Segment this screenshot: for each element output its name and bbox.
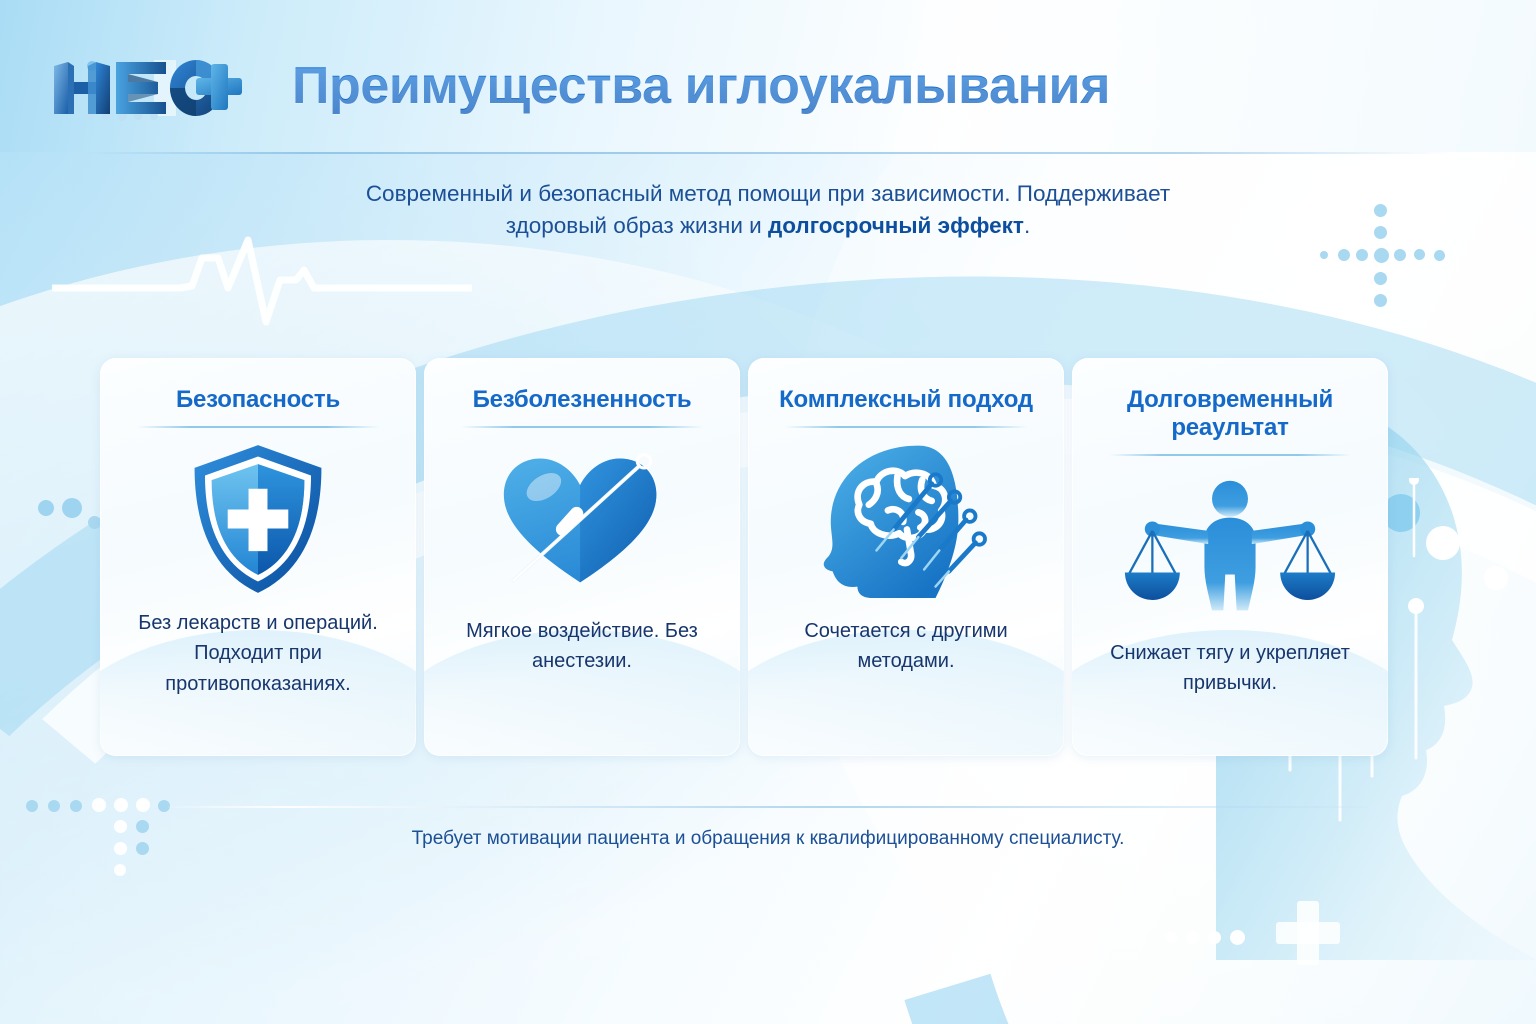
heartbeat-line <box>52 236 472 326</box>
head-brain-needles-icon <box>762 434 1050 604</box>
footer-note: Требует мотивации пациента и обращения к… <box>268 828 1268 850</box>
card-text: Мягкое воздействие. Без анестезии. <box>438 616 726 677</box>
benefit-card-long-term-result[interactable]: Долговременный реаультат <box>1072 358 1388 756</box>
footer-divider <box>168 806 1368 808</box>
bubble-accent-2 <box>38 500 54 516</box>
benefit-card-complex-approach[interactable]: Комплексный подход <box>748 358 1064 756</box>
header-divider <box>85 152 1451 154</box>
benefit-cards: Безопасность <box>100 358 1388 756</box>
card-divider <box>785 426 1027 428</box>
benefit-card-painless[interactable]: Безболезненность <box>424 358 740 756</box>
card-text: Сочетается с другими методами. <box>762 616 1050 677</box>
card-text: Снижает тягу и укрепляет привычки. <box>1086 638 1374 699</box>
benefit-card-safety[interactable]: Безопасность <box>100 358 416 756</box>
heart-needle-icon <box>438 434 726 604</box>
card-title: Долговременный реаультат <box>1086 386 1374 442</box>
subtitle-highlight: долгосрочный эффект <box>768 213 1024 238</box>
card-title: Безопасность <box>176 386 340 414</box>
neo-plus-logo <box>48 52 248 124</box>
subtitle-line-2-tail: . <box>1024 213 1030 238</box>
card-divider <box>137 426 379 428</box>
shield-cross-icon <box>114 434 402 604</box>
bubble-accent-3 <box>62 498 82 518</box>
card-text: Без лекарств и операций. Подходит при пр… <box>114 608 402 699</box>
subtitle: Современный и безопасный метод помощи пр… <box>268 178 1268 242</box>
card-title: Безболезненность <box>473 386 692 414</box>
balance-scales-person-icon <box>1086 462 1374 632</box>
card-title: Комплексный подход <box>779 386 1033 414</box>
header: Преимущества иглоукалывания <box>0 0 1536 152</box>
infographic-canvas: Преимущества иглоукалывания Современный … <box>0 0 1536 1024</box>
card-divider <box>461 426 703 428</box>
card-divider <box>1109 454 1351 456</box>
page-title: Преимущества иглоукалывания <box>292 56 1110 116</box>
subtitle-line-2-lead: здоровый образ жизни и <box>506 213 768 238</box>
subtitle-line-1: Современный и безопасный метод помощи пр… <box>366 181 1170 206</box>
